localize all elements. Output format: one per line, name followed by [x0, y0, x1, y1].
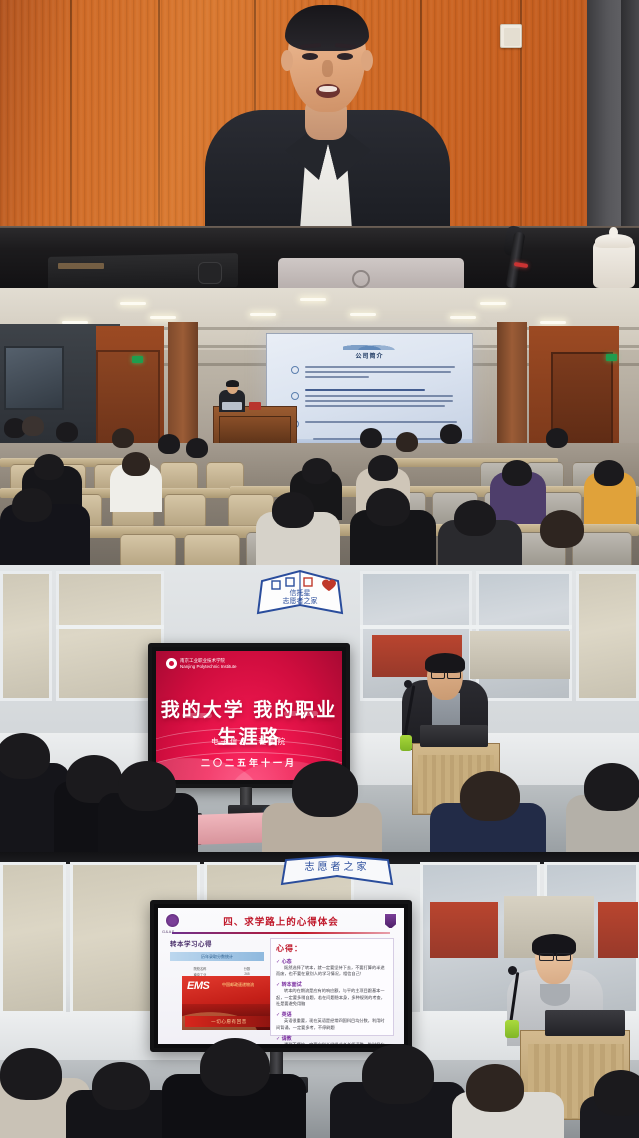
slide-bullet-item: ✓ 心态既然选择了转本，就一定要坚持下去，不要打算的半途而废，也不要在意别人的学… [276, 958, 388, 978]
slide-org-name: 南京工业职业技术学院 [180, 658, 225, 663]
left-column-heading: 转本学习心得 [170, 938, 264, 948]
hall-slide-title: 公司简介 [267, 351, 472, 360]
auditorium-seat [160, 462, 198, 490]
hoodie-neckline [540, 984, 570, 1006]
slide-bullet-item: ✓ 英语英语很重要，现在英语是经常四国科目均分数，利用时间背诵，一定要多考，不停… [276, 1011, 388, 1031]
audience-head [396, 432, 418, 452]
bullet-text: 英语很重要，现在英语是经常四国科目均分数，利用时间背诵，一定要多考，不停刷题 [276, 1018, 388, 1031]
emergency-exit-sign [132, 356, 143, 363]
presenter-glasses-left [539, 953, 554, 961]
volunteer-home-sign: 志愿者之家 [278, 854, 396, 888]
water-bottle [400, 735, 412, 751]
bullet-label: ✓ 心态 [276, 958, 388, 965]
speaker-nose [322, 60, 333, 77]
light-switch[interactable] [500, 24, 522, 48]
wall-mounted-tv[interactable]: G&AS 四、求学路上的心得体会 转本学习心得 历年录取分数统计 院校名称分数南… [150, 900, 412, 1052]
audience-head [122, 452, 150, 476]
slide-left-column: 转本学习心得 历年录取分数统计 院校名称分数南京工业265南京工程258淮阴工学… [170, 938, 264, 1036]
audience-head [186, 438, 208, 458]
student-head [466, 1064, 524, 1112]
bullet-text: 转本的在期流是应有的响应额，与平的主项目跟基本一起，一定要多稍自题，若在问题隐本… [276, 988, 388, 1008]
water-bottle [505, 1020, 519, 1038]
tablet-camera-icon [198, 262, 222, 284]
audience-head [34, 454, 64, 480]
student-head [92, 1062, 150, 1110]
slide-bullet-item: ✓ 请教遇到不懂的一定要向学长学姐或者老师请教，勉时保存所遇到的问题库及处引之在… [276, 1035, 388, 1045]
audience-head [366, 488, 410, 526]
presenter-laptop[interactable] [420, 725, 488, 747]
audience-head [12, 488, 52, 522]
bullet-text: 遇到不懂的一定要向学长学姐或者老师请教，勉时保存所遇到的问题库及处引之在透明的 [276, 1042, 388, 1045]
panel-classroom-red-slide: 信托星 志愿者之家 南京工业职业技术学院 Nanjing Polytechnic… [0, 565, 639, 852]
student-head [460, 771, 520, 821]
slide-org-name-en: Nanjing Polytechnic Institute [180, 664, 237, 669]
panel-lecture-hall: 公司简介 [0, 288, 639, 565]
university-logo-icon [166, 658, 177, 669]
audience-head [540, 510, 584, 548]
hall-speaker-hair [226, 380, 239, 387]
classroom-window [0, 862, 66, 1014]
audience-head [594, 460, 624, 486]
audience-head [454, 500, 496, 536]
student-head [118, 761, 176, 811]
speaker-ear-left [281, 50, 293, 71]
podium-laptop [222, 402, 242, 410]
tv-screen: 南京工业职业技术学院 Nanjing Polytechnic Institute… [156, 651, 342, 780]
ems-logo: EMS [187, 980, 209, 992]
audience-head [360, 428, 382, 448]
outside-building [598, 902, 638, 958]
slide-title-rule [172, 932, 390, 934]
auditorium-seat [164, 494, 206, 526]
auditorium-seat [184, 534, 240, 565]
outside-building [430, 902, 498, 958]
speaker-teeth [319, 86, 337, 92]
svg-text:信托星: 信托星 [290, 588, 311, 597]
audience-head [22, 416, 44, 436]
speaker-ear-right [361, 50, 373, 71]
student-head [362, 1044, 434, 1104]
hall-column-left [168, 322, 198, 450]
audience-head [56, 422, 78, 442]
speaker-hair [285, 5, 369, 51]
bullet-label: ✓ 转本面试 [276, 981, 388, 988]
tablet-brand-mark [58, 263, 104, 269]
svg-text:志愿者之家: 志愿者之家 [283, 596, 318, 605]
slide-section-title: 四、求学路上的心得体会 [158, 914, 404, 928]
podium-front-panel [219, 416, 291, 444]
student-head [200, 1038, 270, 1096]
tv-screen: G&AS 四、求学路上的心得体会 转本学习心得 历年录取分数统计 院校名称分数南… [158, 908, 404, 1044]
presenter-hair [425, 653, 465, 673]
audience-head [502, 460, 532, 486]
right-column-heading: 心得： [276, 943, 388, 954]
classroom-window [0, 571, 52, 701]
audience-head [440, 424, 462, 444]
student-head [0, 1048, 62, 1100]
microphone-capsule [508, 966, 517, 975]
slide-right-column: 心得： ✓ 心态既然选择了转本，就一定要坚持下去，不要打算的半途而废，也不要在意… [270, 938, 394, 1036]
ems-tagline: 中国邮政速递物流 [222, 982, 254, 988]
student-head [594, 1070, 639, 1116]
bullet-text: 既然选择了转本，就一定要坚持下去，不要打算的半途而废，也不要在意别人的学习情况，… [276, 965, 388, 978]
speaker-eye-right [337, 53, 353, 60]
volunteer-home-sign: 信托星 志愿者之家 [252, 569, 348, 617]
audience-head [272, 492, 314, 528]
student-head [0, 733, 50, 779]
ems-poster: EMS 中国邮政速递物流 一切心愿有回音 [182, 976, 276, 1030]
audience-head [546, 428, 568, 448]
audience-head [302, 458, 332, 484]
presenter-glasses-right [556, 953, 571, 961]
audience-head [112, 428, 134, 448]
emergency-exit-sign [606, 354, 617, 361]
slide-bullet-item: ✓ 转本面试转本的在期流是应有的响应额，与平的主项目跟基本一起，一定要多稍自题，… [276, 981, 388, 1008]
panel-classroom-white-slide: 志愿者之家 G&AS 四、求学路上的心得体会 转本学习心得 历年录取分数统计 院… [0, 852, 639, 1138]
hall-window [4, 346, 64, 410]
student-head [584, 763, 639, 811]
university-logo: 南京工业职业技术学院 Nanjing Polytechnic Institute [166, 658, 237, 669]
student-head [292, 761, 358, 817]
presenter-glasses-right [447, 671, 461, 679]
photo-collage: 公司简介 [0, 0, 639, 1138]
dell-laptop[interactable] [278, 258, 464, 288]
microphone-capsule [404, 680, 412, 688]
left-table-caption: 历年录取分数统计 [170, 952, 264, 961]
audience-head [368, 455, 398, 481]
window-mullion [360, 625, 572, 629]
svg-text:志愿者之家: 志愿者之家 [305, 860, 370, 873]
speaker-eye-left [302, 53, 318, 60]
bullet-label: ✓ 请教 [276, 1035, 388, 1042]
bullet-label: ✓ 英语 [276, 1011, 388, 1018]
podium-red-nameplate [249, 402, 261, 410]
auditorium-seat [120, 534, 176, 565]
slide-mountain-motif [343, 341, 397, 350]
ems-strip-text: 一切心愿有回音 [185, 1016, 273, 1027]
classroom-window [576, 571, 639, 701]
panel-speaker-closeup [0, 0, 639, 288]
window-mullion [56, 625, 164, 629]
teacup-knob [609, 227, 618, 238]
presenter-laptop[interactable] [545, 1010, 625, 1036]
audience-head [158, 434, 180, 454]
presenter-glasses-left [431, 671, 445, 679]
dell-logo-icon [352, 270, 370, 288]
hall-column-right [497, 322, 527, 450]
outside-building [470, 631, 570, 679]
